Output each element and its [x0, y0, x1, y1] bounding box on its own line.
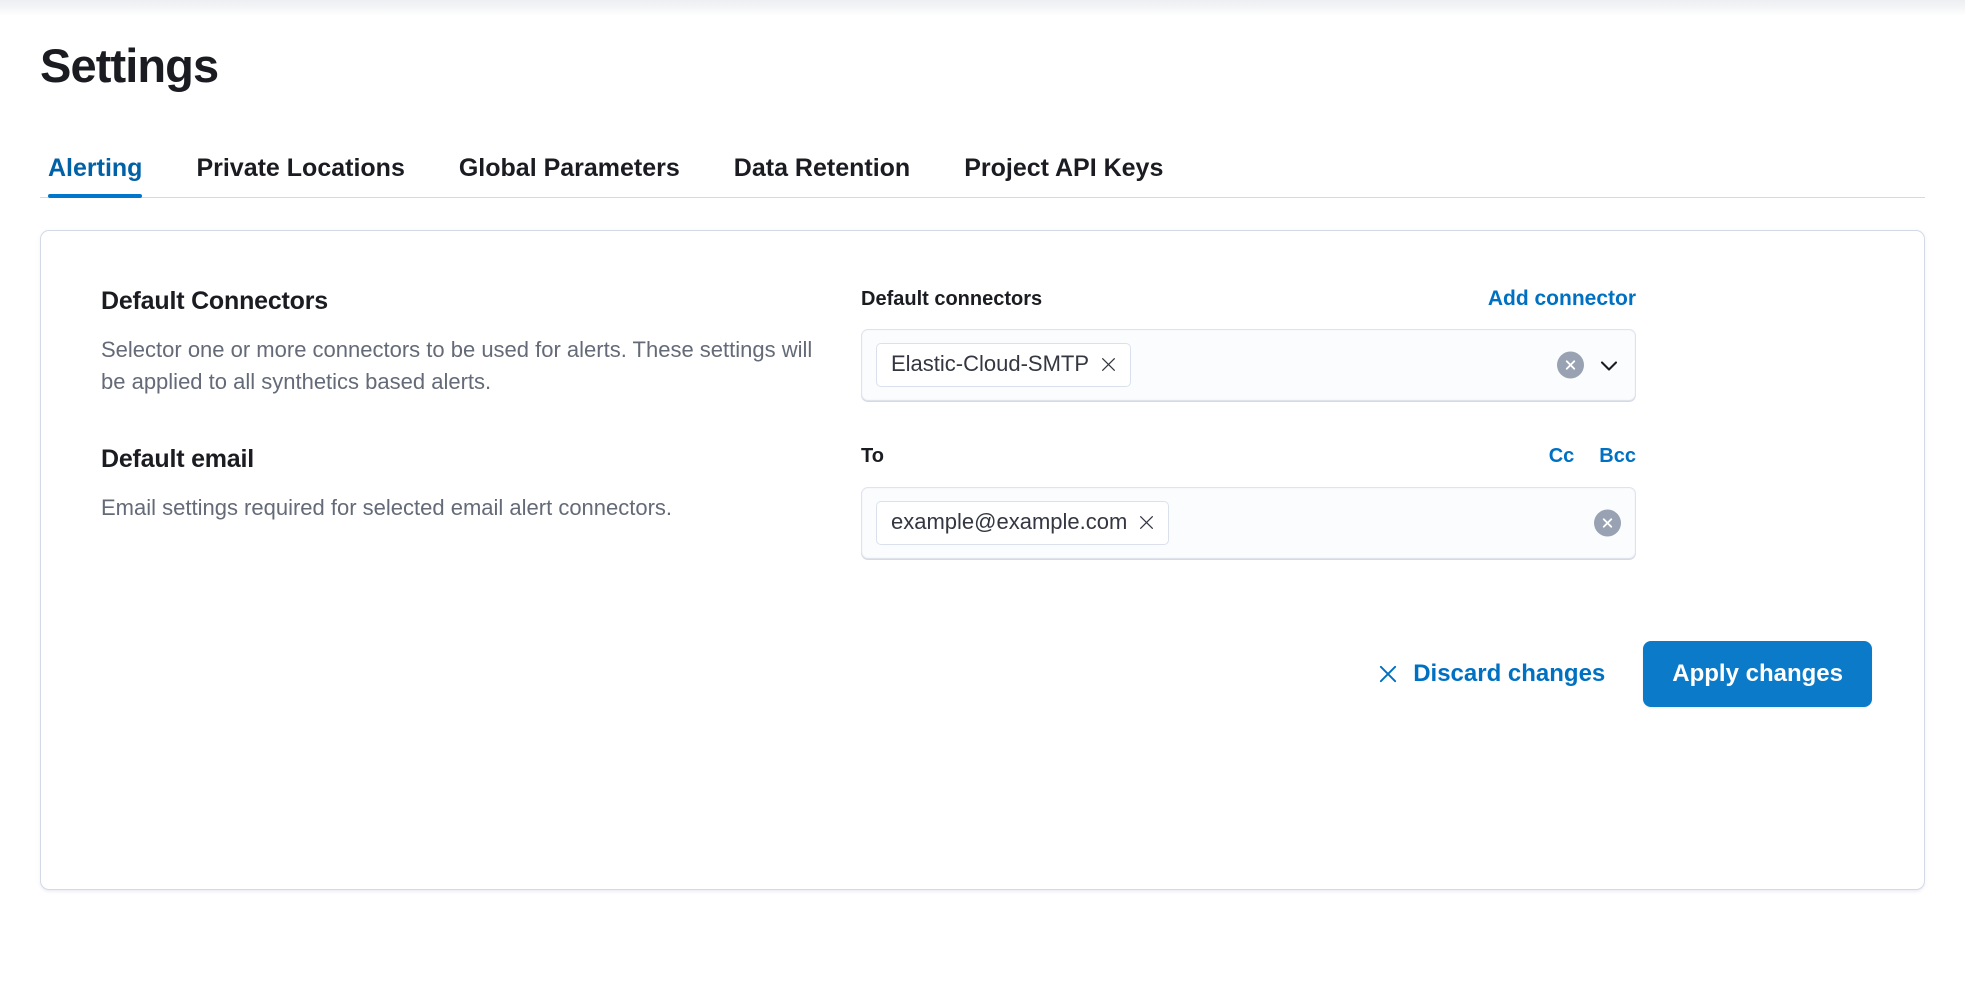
email-pill-label: example@example.com: [891, 509, 1127, 535]
default-connectors-label-row: Default connectors Add connector: [861, 287, 1636, 313]
remove-email-icon[interactable]: [1138, 514, 1155, 531]
tab-project-api-keys[interactable]: Project API Keys: [937, 156, 1190, 197]
connector-pill[interactable]: Elastic-Cloud-SMTP: [876, 343, 1131, 386]
cross-icon: [1377, 663, 1399, 685]
default-connectors-description-block: Default Connectors Selector one or more …: [81, 287, 861, 398]
email-pill[interactable]: example@example.com: [876, 501, 1169, 544]
page-title: Settings: [40, 0, 1925, 89]
to-email-combobox-actions: [1594, 510, 1621, 537]
chevron-down-icon[interactable]: [1597, 353, 1621, 377]
default-connectors-combobox-actions: [1557, 352, 1621, 379]
bcc-link[interactable]: Bcc: [1599, 445, 1636, 468]
default-connectors-row: Default Connectors Selector one or more …: [81, 287, 1884, 401]
tab-global-parameters[interactable]: Global Parameters: [432, 156, 707, 197]
to-email-combobox[interactable]: example@example.com: [861, 487, 1636, 559]
default-connectors-description: Selector one or more connectors to be us…: [101, 334, 821, 398]
settings-tabs: Alerting Private Locations Global Parame…: [40, 145, 1925, 198]
discard-changes-label: Discard changes: [1413, 660, 1605, 688]
default-email-field-block: To Cc Bcc example@example.com: [861, 445, 1636, 559]
default-connectors-label: Default connectors: [861, 288, 1042, 311]
default-connectors-combobox[interactable]: Elastic-Cloud-SMTP: [861, 329, 1636, 401]
email-recipient-links: Cc Bcc: [1549, 445, 1636, 468]
panel-footer: Discard changes Apply changes: [81, 641, 1884, 707]
remove-connector-icon[interactable]: [1100, 356, 1117, 373]
default-connectors-heading: Default Connectors: [101, 287, 821, 316]
default-email-description-block: Default email Email settings required fo…: [81, 445, 861, 524]
default-connectors-field-block: Default connectors Add connector Elastic…: [861, 287, 1636, 401]
tab-alerting[interactable]: Alerting: [48, 156, 169, 197]
to-label: To: [861, 445, 884, 468]
tab-data-retention[interactable]: Data Retention: [707, 156, 937, 197]
clear-connectors-button[interactable]: [1557, 352, 1584, 379]
connector-pill-label: Elastic-Cloud-SMTP: [891, 351, 1089, 377]
clear-email-button[interactable]: [1594, 510, 1621, 537]
default-email-heading: Default email: [101, 445, 821, 474]
alerting-settings-panel: Default Connectors Selector one or more …: [40, 230, 1925, 890]
settings-page: Settings Alerting Private Locations Glob…: [0, 0, 1965, 890]
apply-changes-button[interactable]: Apply changes: [1643, 641, 1872, 707]
add-connector-link[interactable]: Add connector: [1488, 287, 1636, 311]
tab-private-locations[interactable]: Private Locations: [169, 156, 431, 197]
default-email-label-row: To Cc Bcc: [861, 445, 1636, 471]
cc-link[interactable]: Cc: [1549, 445, 1575, 468]
default-email-description: Email settings required for selected ema…: [101, 492, 821, 524]
default-email-row: Default email Email settings required fo…: [81, 445, 1884, 559]
discard-changes-button[interactable]: Discard changes: [1369, 650, 1613, 698]
